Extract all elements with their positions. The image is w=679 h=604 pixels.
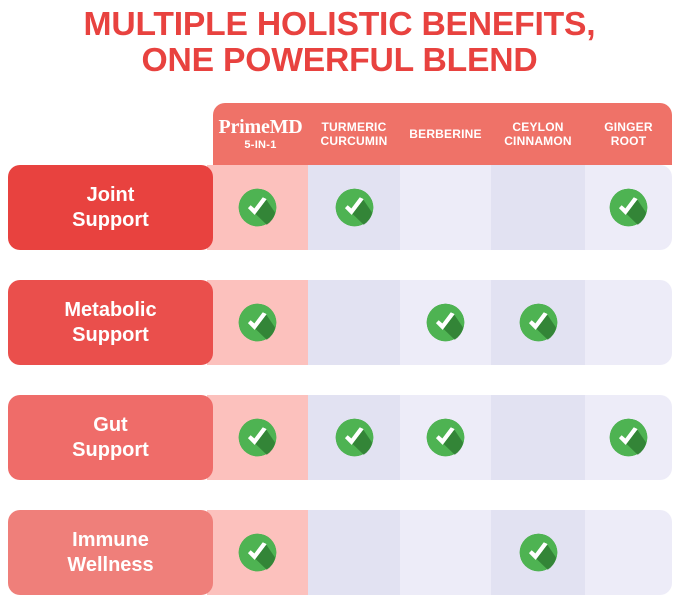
column-header-primemd: PrimeMD 5-IN-1 [213,103,308,165]
cell-joint-turmeric [308,165,400,250]
check-circle-icon [425,417,466,458]
cell-metabolic-berberine [400,280,491,365]
check-circle-icon [237,532,278,573]
row-label-line-1: Gut [93,414,127,436]
column-header-berberine: BERBERINE [400,103,491,165]
row-label-line-2: Support [72,209,149,231]
column-header-ceylon-line-2: CINNAMON [504,134,572,148]
row-cells [207,395,672,480]
row-cells [207,280,672,365]
brand-name: PrimeMD [218,117,302,138]
check-circle-icon [518,302,559,343]
table-row: Gut Support [8,395,672,480]
column-header-turmeric: TURMERIC CURCUMIN [308,103,400,165]
row-label-immune-wellness: Immune Wellness [8,510,213,595]
page-title: MULTIPLE HOLISTIC BENEFITS, ONE POWERFUL… [0,0,679,78]
cell-immune-ceylon [491,510,585,595]
check-circle-icon [608,187,649,228]
row-label-line-2: Support [72,439,149,461]
cell-metabolic-ginger [585,280,672,365]
cell-metabolic-ceylon [491,280,585,365]
row-label-gut-support: Gut Support [8,395,213,480]
table-row: Metabolic Support [8,280,672,365]
brand-subtitle: 5-IN-1 [244,139,276,152]
cell-joint-primemd [207,165,308,250]
column-header-ceylon: CEYLON CINNAMON [491,103,585,165]
cell-joint-ginger [585,165,672,250]
column-header-ceylon-line-1: CEYLON [512,120,563,134]
row-label-joint-support: Joint Support [8,165,213,250]
cell-gut-ginger [585,395,672,480]
row-label-line-1: Metabolic [64,299,156,321]
cell-gut-ceylon [491,395,585,480]
cell-joint-berberine [400,165,491,250]
cell-gut-primemd [207,395,308,480]
column-header-turmeric-line-1: TURMERIC [322,120,387,134]
check-circle-icon [237,187,278,228]
page-title-line-2: ONE POWERFUL BLEND [0,42,679,78]
row-label-line-1: Joint [87,184,135,206]
cell-immune-primemd [207,510,308,595]
table-header-row: PrimeMD 5-IN-1 TURMERIC CURCUMIN BERBERI… [213,103,672,165]
check-circle-icon [518,532,559,573]
check-circle-icon [334,187,375,228]
column-header-ginger-line-2: ROOT [611,134,646,148]
row-cells [207,510,672,595]
page-title-line-1: MULTIPLE HOLISTIC BENEFITS, [0,6,679,42]
row-label-line-1: Immune [72,529,149,551]
row-label-line-2: Support [72,324,149,346]
check-circle-icon [237,302,278,343]
cell-metabolic-turmeric [308,280,400,365]
table-row: Joint Support [8,165,672,250]
column-header-turmeric-line-2: CURCUMIN [321,134,388,148]
row-cells [207,165,672,250]
cell-joint-ceylon [491,165,585,250]
cell-immune-ginger [585,510,672,595]
check-circle-icon [334,417,375,458]
check-circle-icon [425,302,466,343]
column-header-ginger-line-1: GINGER [604,120,653,134]
cell-gut-turmeric [308,395,400,480]
cell-metabolic-primemd [207,280,308,365]
column-header-berberine-line-1: BERBERINE [409,127,481,141]
cell-immune-turmeric [308,510,400,595]
check-circle-icon [608,417,649,458]
comparison-table: PrimeMD 5-IN-1 TURMERIC CURCUMIN BERBERI… [0,103,679,604]
check-circle-icon [237,417,278,458]
column-header-ginger: GINGER ROOT [585,103,672,165]
row-label-line-2: Wellness [67,554,153,576]
cell-immune-berberine [400,510,491,595]
row-label-metabolic-support: Metabolic Support [8,280,213,365]
table-row: Immune Wellness [8,510,672,595]
cell-gut-berberine [400,395,491,480]
